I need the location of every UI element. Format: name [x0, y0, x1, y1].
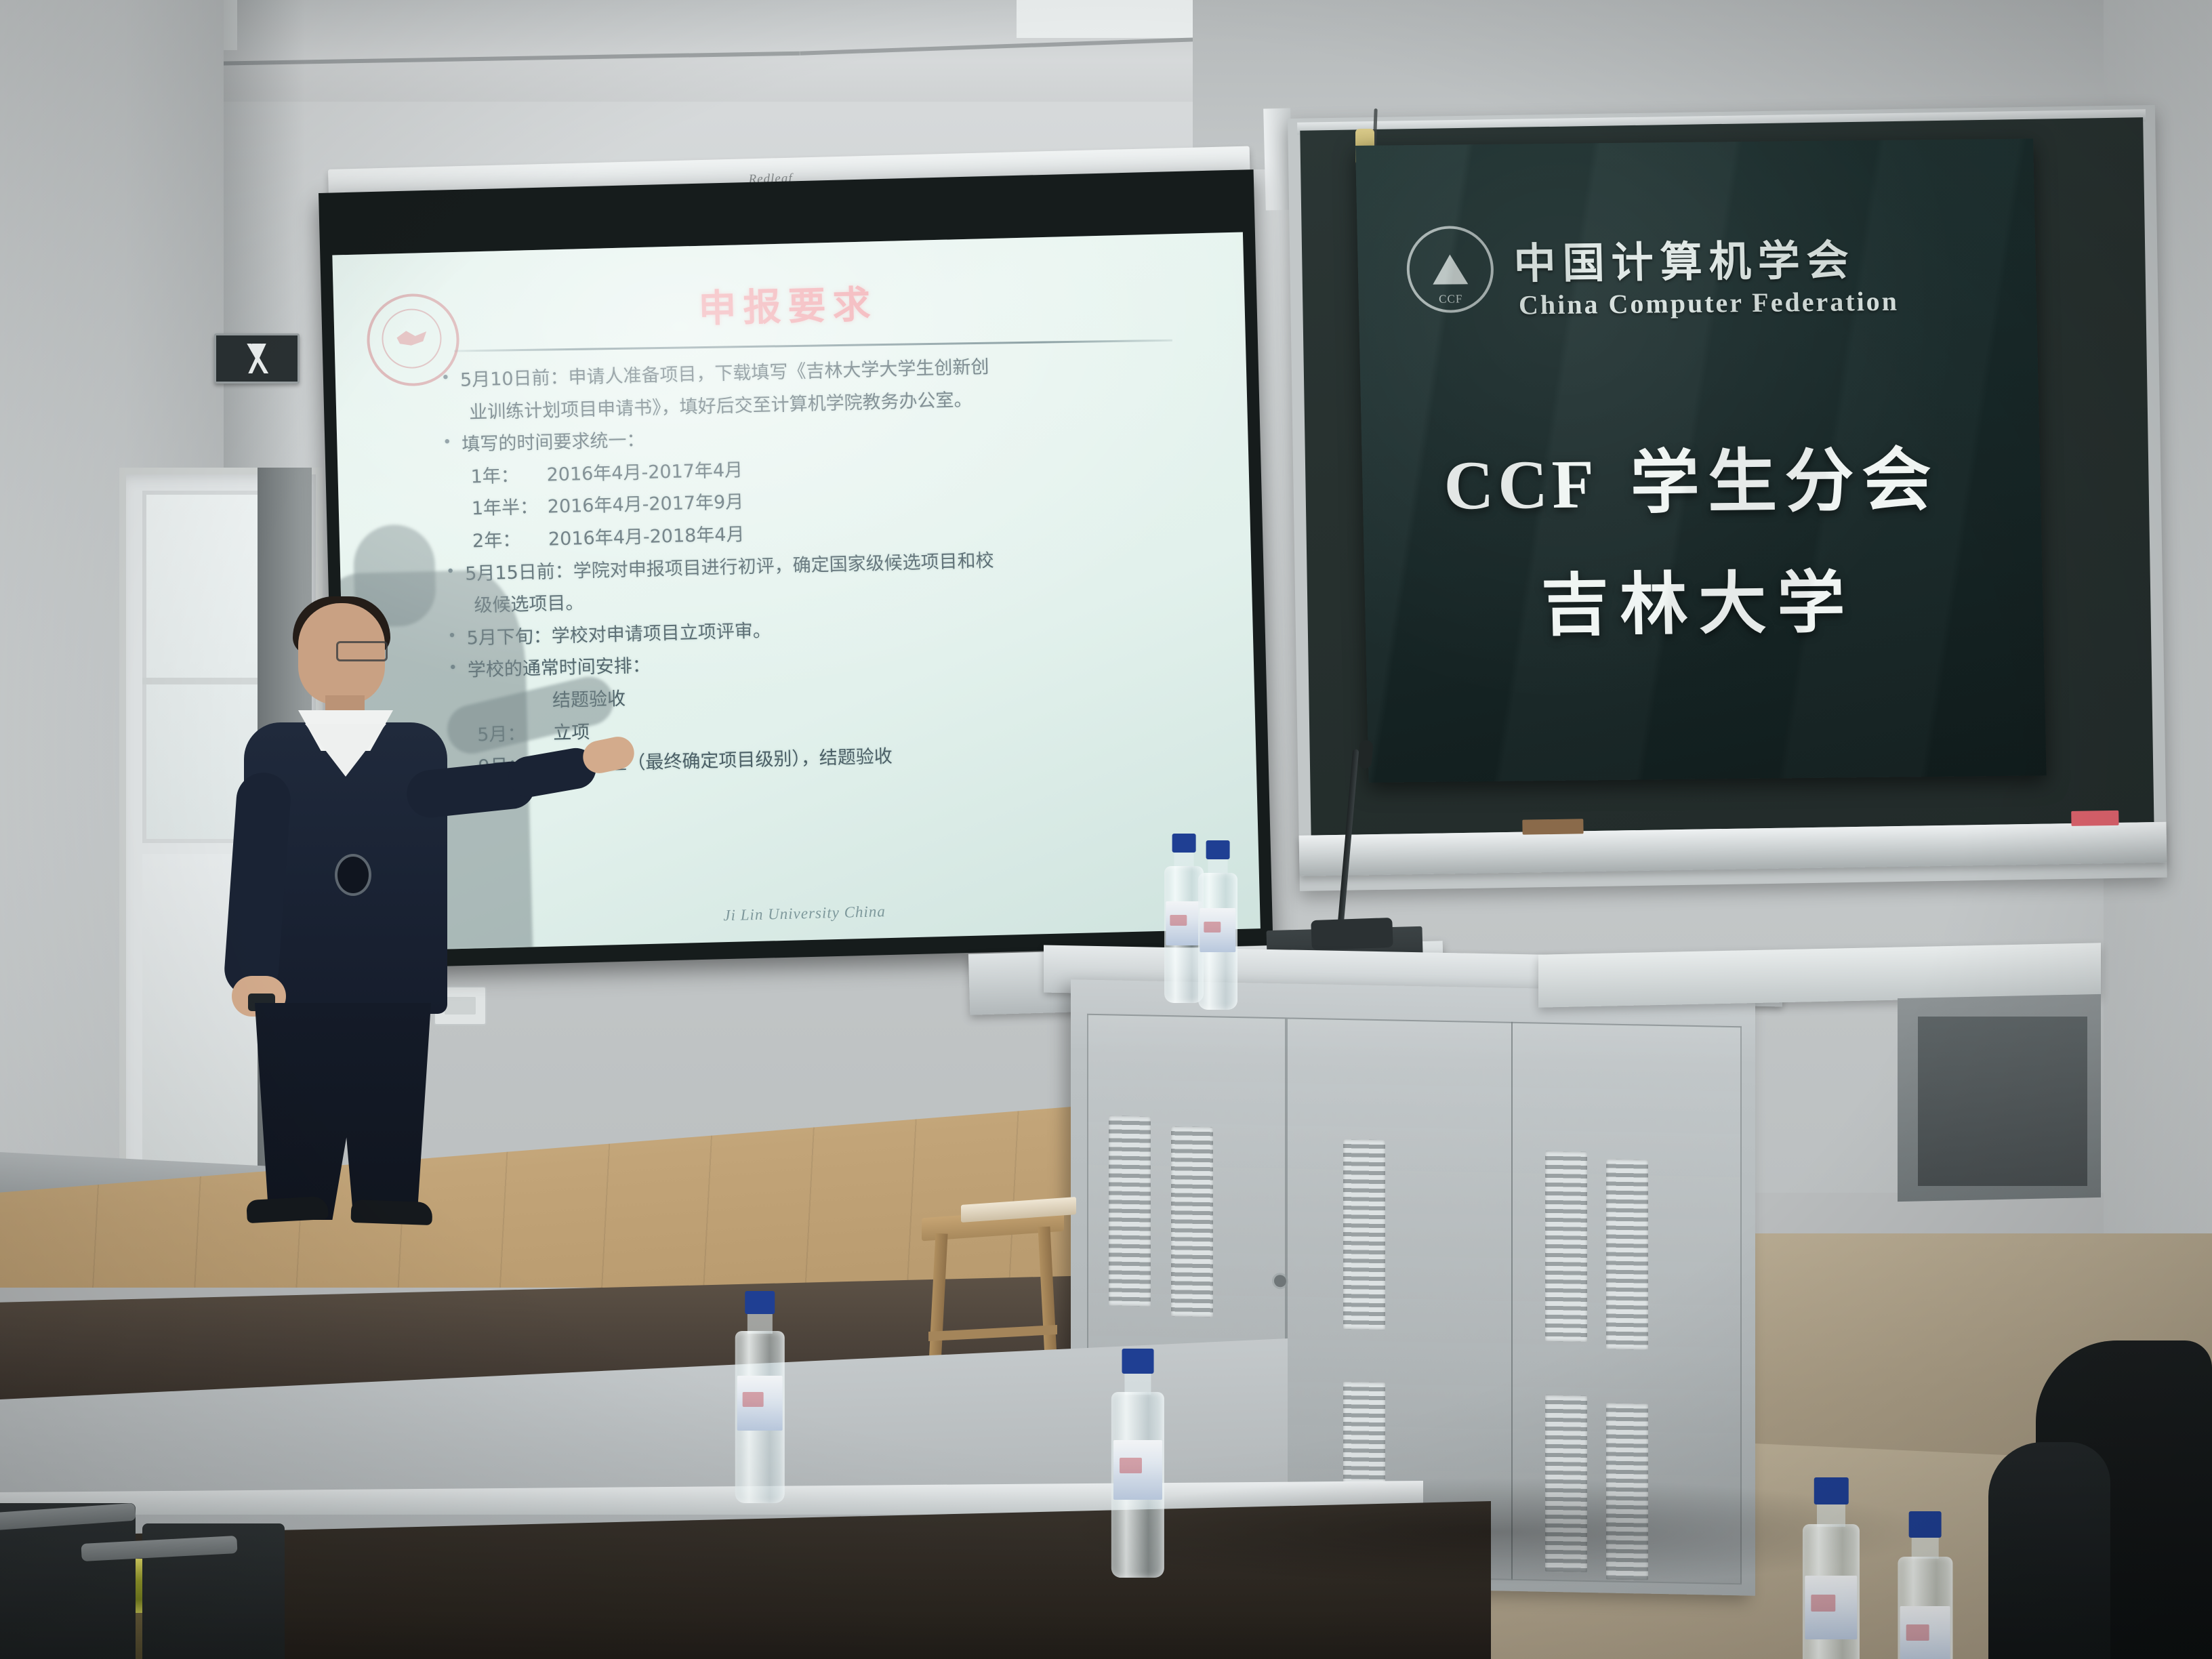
cabinet-lock-icon[interactable]: [1274, 1275, 1286, 1287]
bottle-cap: [1172, 834, 1196, 853]
ccf-banner: CCF 中国计算机学会 China Computer Federation CC…: [1355, 139, 2047, 783]
banner-org-chinese: 中国计算机学会: [1513, 226, 1856, 290]
bottle-riser-mid: [1111, 1349, 1164, 1578]
banner-main-cn: 学生分会: [1629, 440, 1940, 524]
ccf-triangle-mark: [1432, 254, 1468, 285]
slide-title-rule: [454, 340, 1172, 352]
bottle-label: [1166, 901, 1202, 945]
slide-subline: 1年半：2016年4月-2017年9月: [441, 481, 1220, 520]
cabinet-vent: [1171, 1126, 1213, 1317]
bottle-label: [737, 1376, 783, 1431]
bottle-cap: [1206, 840, 1230, 859]
cabinet-vent: [1109, 1115, 1151, 1306]
bottle-cap: [1908, 1511, 1942, 1538]
cabinet-vent: [1343, 1139, 1385, 1330]
ccf-logo-icon: CCF: [1406, 226, 1495, 313]
presenter: [203, 596, 488, 1220]
lecture-hall-photo: Redleaf 申报要求 5月10日前：申请人准备项目，下载填写《吉林大学大学生…: [0, 0, 2212, 1659]
ledge-eraser: [1522, 819, 1583, 834]
audience-member: [1988, 1442, 2110, 1659]
microphone-base: [1311, 918, 1393, 950]
glasses-icon: [336, 641, 388, 661]
bottle-cap: [1814, 1477, 1848, 1504]
ledge-chalk-box: [2071, 811, 2118, 826]
slide-bullet: 5月10日前：申请人准备项目，下载填写《吉林大学大学生创新创: [437, 352, 1216, 392]
side-counter-recess: [1918, 1017, 2087, 1186]
slide-bullet: 5月下旬：学校对申请项目立项评审。: [443, 610, 1223, 649]
running-person-icon: [245, 344, 268, 373]
slide-bullet: 填写的时间要求统一：: [438, 417, 1218, 456]
slide-title: 申报要求: [509, 269, 1066, 338]
bottle-riser-left: [735, 1291, 785, 1503]
bottle-floor-b: [1898, 1511, 1952, 1659]
presenter-shoe: [350, 1200, 432, 1225]
bottle-label: [1200, 908, 1235, 952]
slide-bullet-cont: 级候选项目。: [443, 578, 1222, 617]
cabinet-vent: [1606, 1159, 1648, 1349]
exit-sign: [214, 333, 300, 384]
stool-rail: [928, 1325, 1057, 1341]
presenter-badge: [335, 854, 371, 896]
bottle-podium-right: [1198, 840, 1237, 1010]
slide-bullet: 学校的通常时间安排：: [445, 642, 1224, 682]
bottle-label: [1805, 1576, 1857, 1639]
bottle-floor-a: [1803, 1477, 1860, 1659]
slide-bullet: 5月15日前：学院对申报项目进行初评，确定国家级候选项目和校: [442, 546, 1221, 585]
presenter-shoe: [246, 1196, 329, 1223]
bottle-neck: [1911, 1538, 1939, 1559]
bottle-neck: [1817, 1504, 1845, 1527]
cabinet-vent: [1545, 1151, 1587, 1342]
bottle-label: [1900, 1606, 1950, 1659]
bottle-neck: [747, 1314, 772, 1333]
presenter-trousers: [255, 1003, 431, 1220]
bottle-neck: [1125, 1374, 1151, 1394]
banner-university-name: 吉林大学: [1540, 547, 1857, 649]
bottle-cap: [745, 1291, 775, 1314]
slide-subline: 2年：2016年4月-2018年4月: [441, 514, 1221, 553]
ccf-logo-caption: CCF: [1410, 292, 1492, 306]
banner-org-english: China Computer Federation: [1518, 285, 1899, 321]
slide-bullet-cont: 业训练计划项目申请书》，填好后交至计算机学院教务办公室。: [438, 384, 1217, 424]
bottle-cap: [1122, 1349, 1154, 1374]
banner-main-title: CCF 学生分会: [1443, 424, 2028, 529]
bottle-label: [1113, 1440, 1162, 1500]
banner-main-en: CCF: [1443, 446, 1599, 524]
slide-subline: 1年：2016年4月-2017年4月: [439, 449, 1218, 488]
